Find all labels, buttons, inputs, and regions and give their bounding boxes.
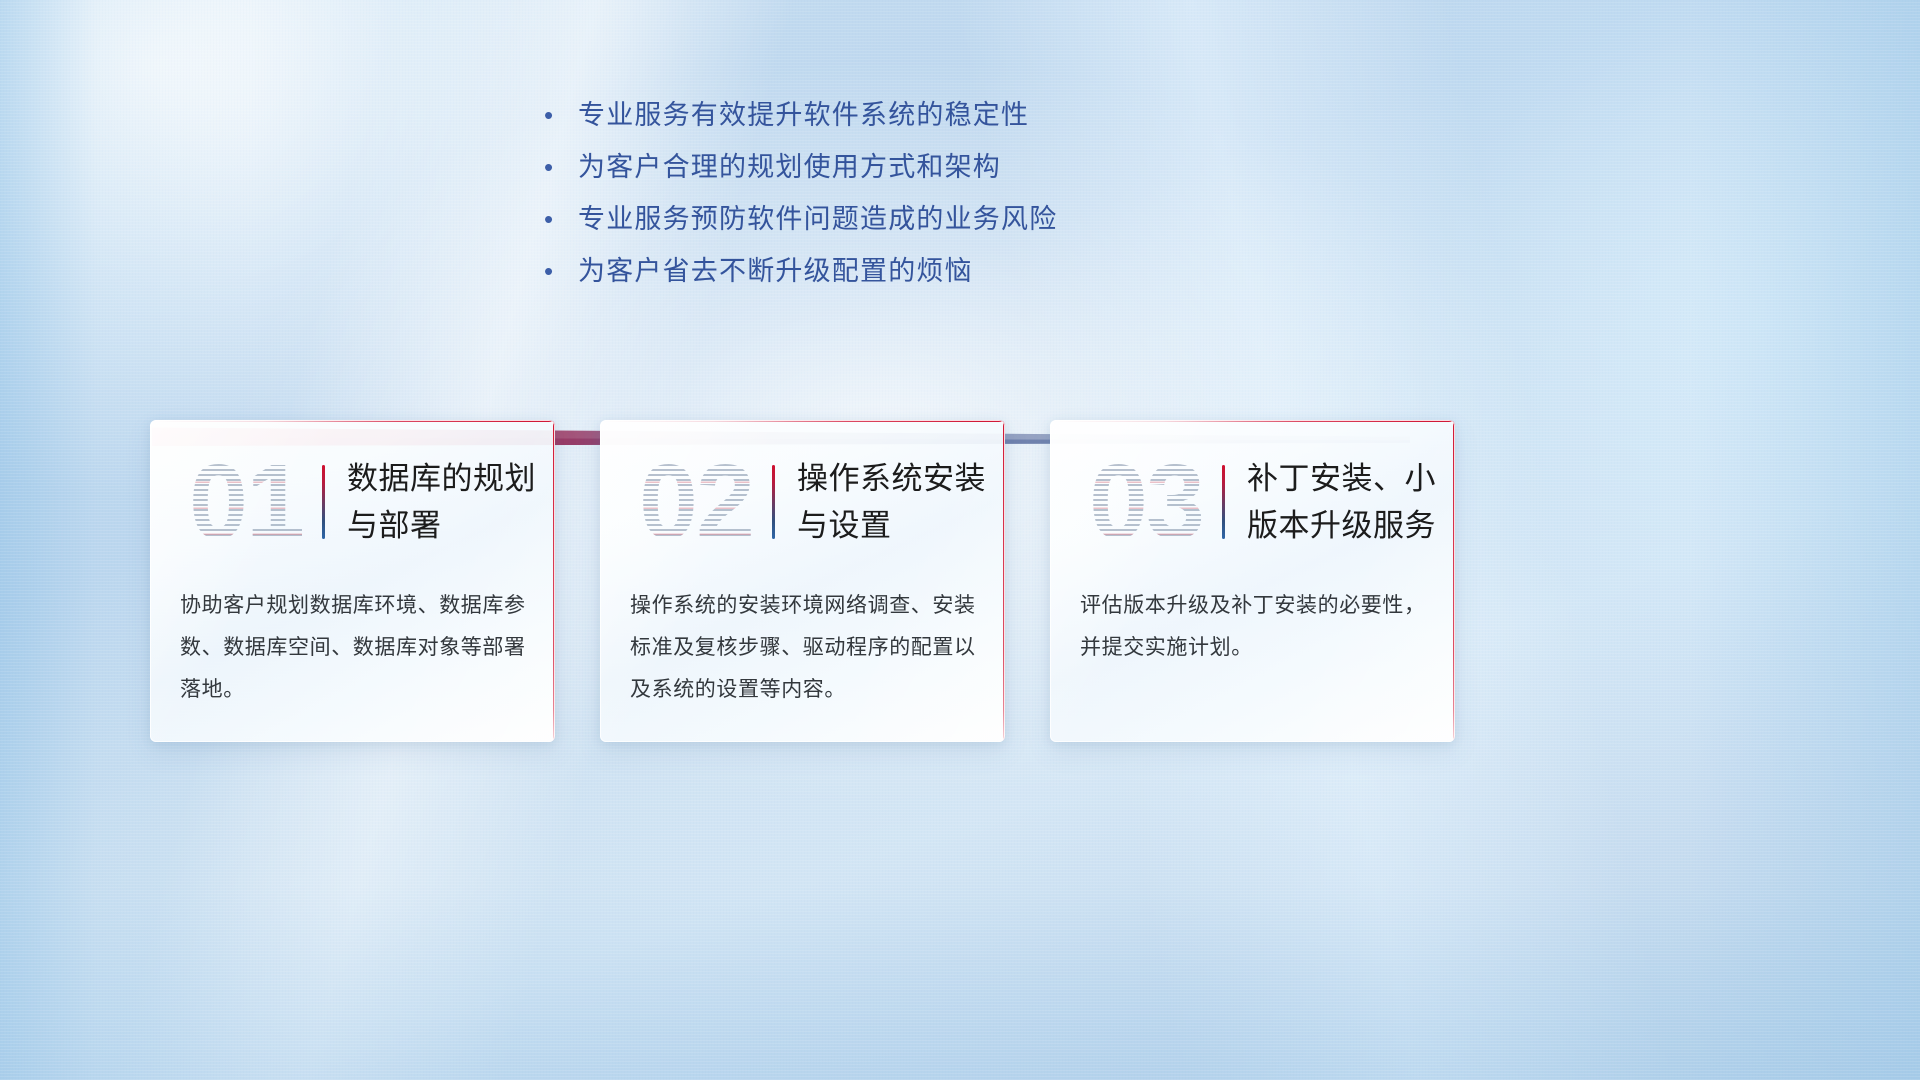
bullet-dot-icon: • — [544, 144, 578, 190]
card-accent-top-edge — [150, 420, 555, 422]
bullet-dot-icon: • — [544, 92, 578, 138]
card-item[interactable]: 02 操作系统安装 与设置 操作系统的安装环境网络调查、安装标准及复核步骤、驱动… — [600, 420, 1005, 742]
bullet-label: 专业服务预防软件问题造成的业务风险 — [578, 196, 1057, 242]
slide-canvas: • 专业服务有效提升软件系统的稳定性 • 为客户合理的规划使用方式和架构 • 专… — [0, 0, 1920, 1080]
bullet-dot-icon: • — [544, 248, 578, 294]
card-item[interactable]: 01 数据库的规划 与部署 协助客户规划数据库环境、数据库参数、数据库空间、数据… — [150, 420, 555, 742]
bullet-item: • 专业服务有效提升软件系统的稳定性 — [544, 92, 1444, 144]
bullet-label: 专业服务有效提升软件系统的稳定性 — [578, 92, 1029, 138]
card-number-watermark: 01 — [176, 443, 316, 561]
card-title: 操作系统安装 与设置 — [797, 455, 986, 549]
card-title-rule — [1222, 465, 1225, 539]
card-header: 03 补丁安装、小 版本升级服务 — [1050, 442, 1455, 562]
bullet-list: • 专业服务有效提升软件系统的稳定性 • 为客户合理的规划使用方式和架构 • 专… — [544, 92, 1444, 300]
bullet-item: • 为客户合理的规划使用方式和架构 — [544, 144, 1444, 196]
card-accent-top-edge — [1050, 420, 1455, 422]
card-title-rule — [772, 465, 775, 539]
card-header: 01 数据库的规划 与部署 — [150, 442, 555, 562]
bullet-dot-icon: • — [544, 196, 578, 242]
card-body-text: 操作系统的安装环境网络调查、安装标准及复核步骤、驱动程序的配置以及系统的设置等内… — [630, 585, 979, 711]
card-body-text: 协助客户规划数据库环境、数据库参数、数据库空间、数据库对象等部署落地。 — [180, 585, 529, 711]
card-number-watermark: 02 — [626, 443, 766, 561]
card-title-rule — [322, 465, 325, 539]
card-body-text: 评估版本升级及补丁安装的必要性，并提交实施计划。 — [1080, 585, 1429, 669]
bullet-label: 为客户合理的规划使用方式和架构 — [578, 144, 1001, 190]
card-header: 02 操作系统安装 与设置 — [600, 442, 1005, 562]
card-title: 数据库的规划 与部署 — [347, 455, 536, 549]
bullet-label: 为客户省去不断升级配置的烦恼 — [578, 248, 973, 294]
card-row: 01 数据库的规划 与部署 协助客户规划数据库环境、数据库参数、数据库空间、数据… — [150, 420, 1460, 750]
bullet-item: • 为客户省去不断升级配置的烦恼 — [544, 248, 1444, 300]
bullet-item: • 专业服务预防软件问题造成的业务风险 — [544, 196, 1444, 248]
card-number-watermark: 03 — [1076, 443, 1216, 561]
card-accent-top-edge — [600, 420, 1005, 422]
card-item[interactable]: 03 补丁安装、小 版本升级服务 评估版本升级及补丁安装的必要性，并提交实施计划… — [1050, 420, 1455, 742]
card-title: 补丁安装、小 版本升级服务 — [1247, 455, 1436, 549]
